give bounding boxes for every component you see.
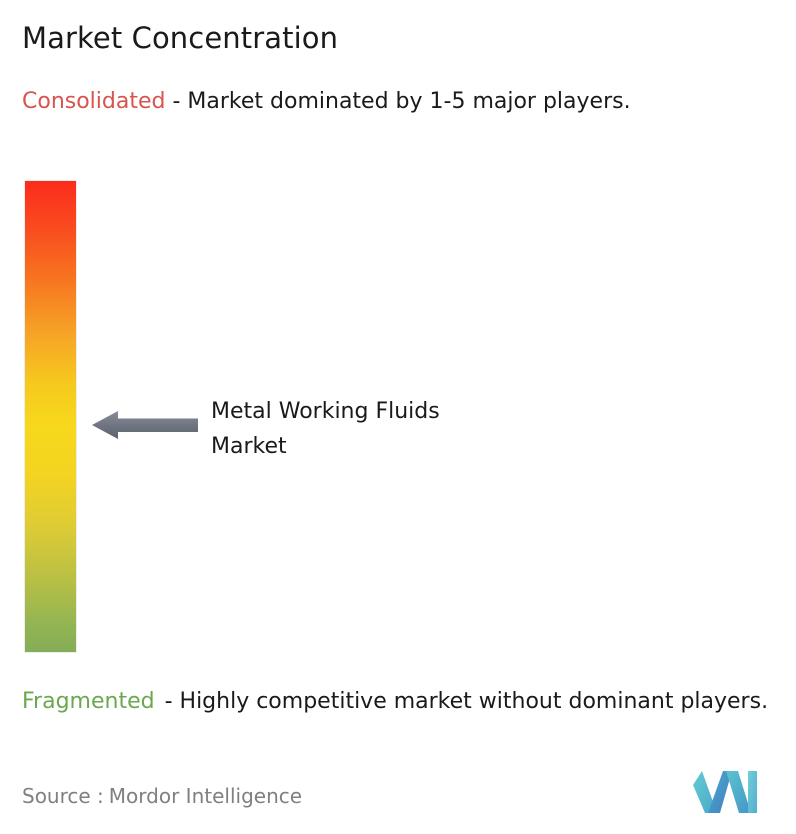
legend-fragmented-term: Fragmented [22, 689, 155, 714]
legend-consolidated: Consolidated- Market dominated by 1-5 ma… [22, 86, 774, 117]
mordor-intelligence-logo-icon [693, 771, 757, 813]
source-label: Source : [22, 784, 104, 808]
legend-fragmented: Fragmented- Highly competitive market wi… [22, 686, 794, 717]
legend-consolidated-term: Consolidated [22, 89, 165, 114]
market-pointer-label-line1: Metal Working Fluids [211, 394, 631, 429]
concentration-gradient-bar [25, 181, 76, 652]
source-value: Mordor Intelligence [109, 784, 302, 808]
market-pointer-label-line2: Market [211, 429, 631, 464]
source-attribution: Source :Mordor Intelligence [22, 782, 302, 810]
legend-consolidated-description: - Market dominated by 1-5 major players. [172, 89, 630, 114]
market-pointer-label: Metal Working Fluids Market [211, 394, 631, 464]
legend-fragmented-description: - Highly competitive market without domi… [165, 689, 768, 714]
market-pointer-arrow-icon [92, 405, 198, 445]
page-title: Market Concentration [22, 20, 338, 56]
